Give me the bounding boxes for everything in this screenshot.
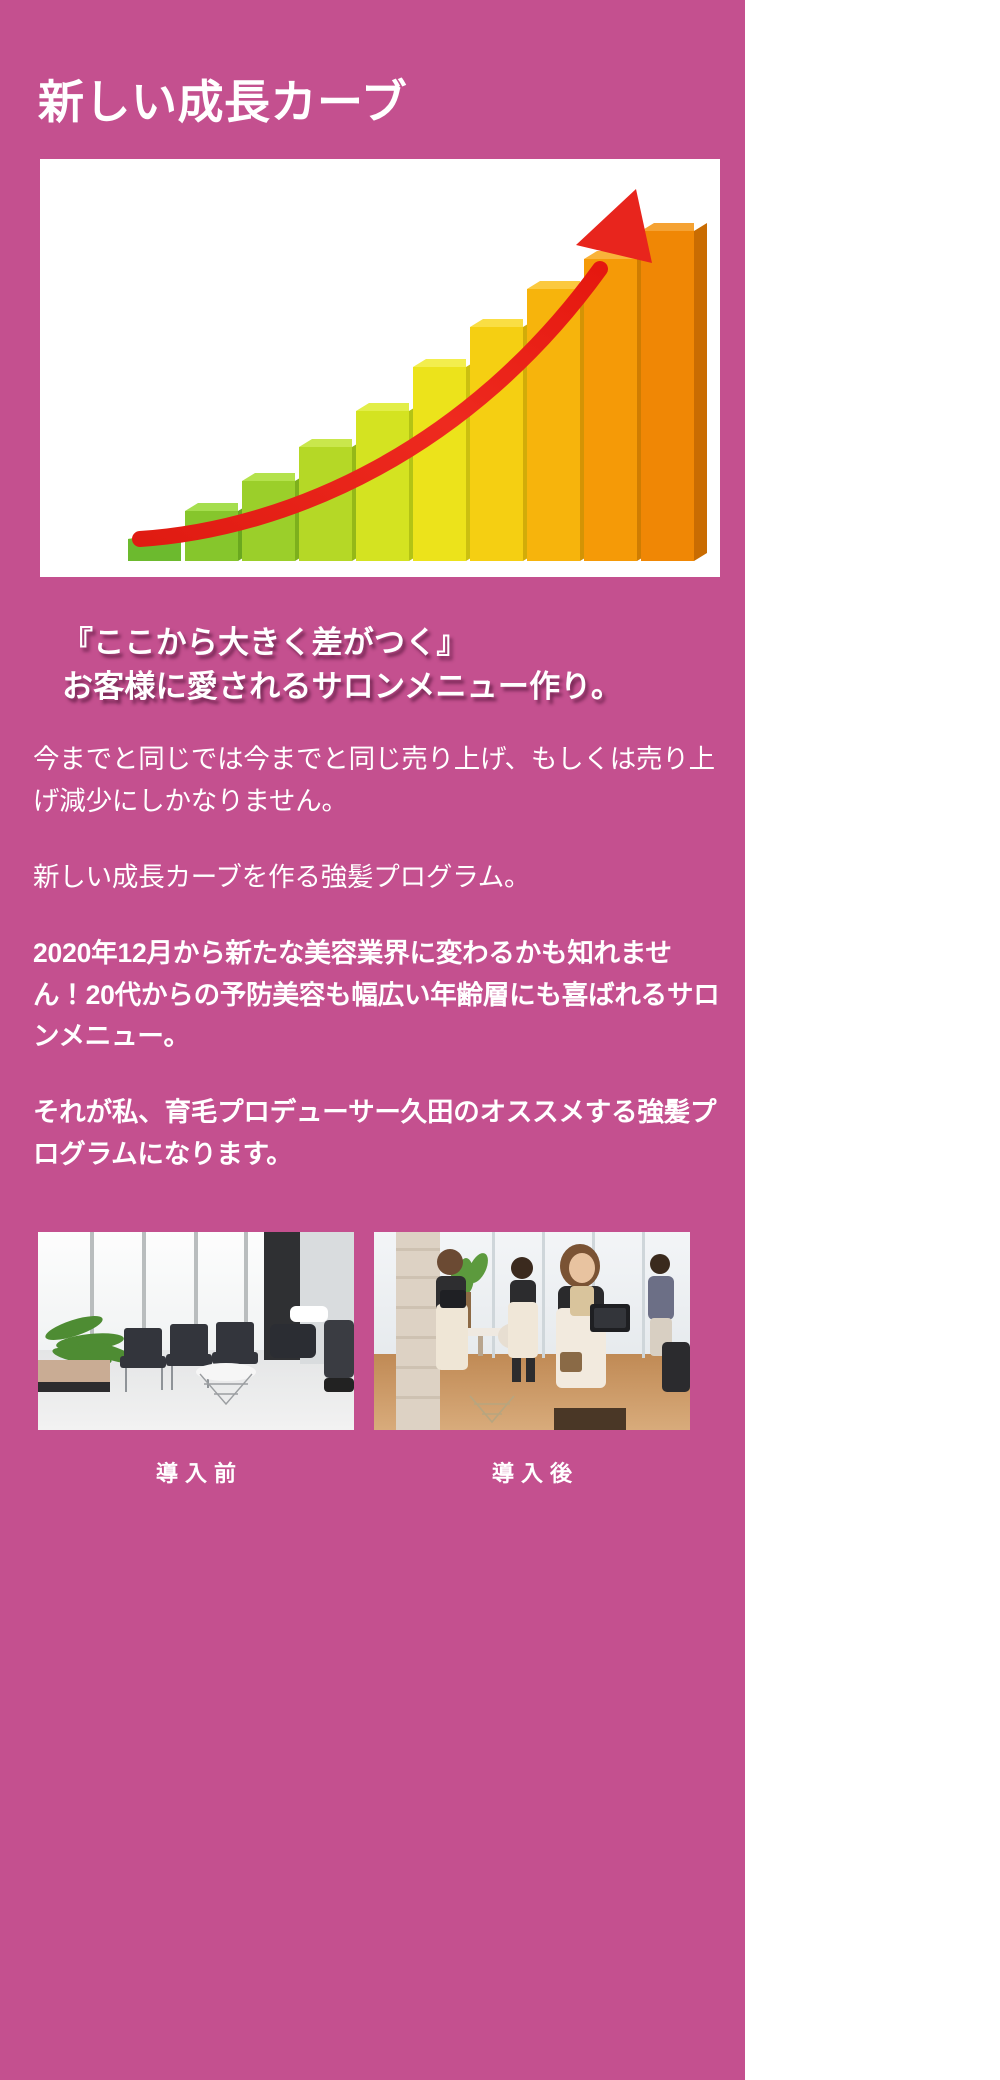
promo-page: 新しい成長カーブ [0, 0, 745, 2080]
headline-line-1: 『ここから大きく差がつく』 [62, 625, 468, 660]
photo-caption-after: 導入後 [374, 1430, 690, 1488]
chart-bar-10 [641, 223, 707, 577]
headline-line-2: お客様に愛されるサロンメニュー作り。 [62, 665, 725, 709]
chart-bar-9 [584, 251, 650, 577]
body-paragraph-2: 新しい成長カーブを作る強髪プログラム。 [33, 857, 723, 899]
body-paragraph-1: 今までと同じでは今までと同じ売り上げ、もしくは売り上げ減少にしかなりません。 [33, 739, 723, 823]
growth-chart-panel [40, 159, 720, 577]
body-copy: 今までと同じでは今までと同じ売り上げ、もしくは売り上げ減少にしかなりません。 新… [0, 739, 745, 1176]
salon-busy-illustration [374, 1232, 690, 1430]
salon-empty-illustration [38, 1232, 354, 1430]
body-paragraph-4: それが私、育毛プロデューサー久田のオススメする強髪プログラムになります。 [33, 1092, 723, 1176]
photo-comparison: 導入前 [0, 1210, 745, 1488]
headline: 『ここから大きく差がつく』 お客様に愛されるサロンメニュー作り。 [0, 621, 745, 709]
chart-bar-6 [413, 359, 479, 577]
photo-cell-before: 導入前 [38, 1232, 354, 1488]
chart-bar-5 [356, 403, 422, 577]
photo-before [38, 1232, 354, 1430]
body-paragraph-3: 2020年12月から新たな美容業界に変わるかも知れません！20代からの予防美容も… [33, 933, 723, 1059]
photo-after [374, 1232, 690, 1430]
photo-caption-before: 導入前 [38, 1430, 354, 1488]
growth-bar-chart [40, 159, 720, 577]
photo-cell-after: 導入後 [374, 1232, 690, 1488]
page-title: 新しい成長カーブ [0, 31, 745, 129]
